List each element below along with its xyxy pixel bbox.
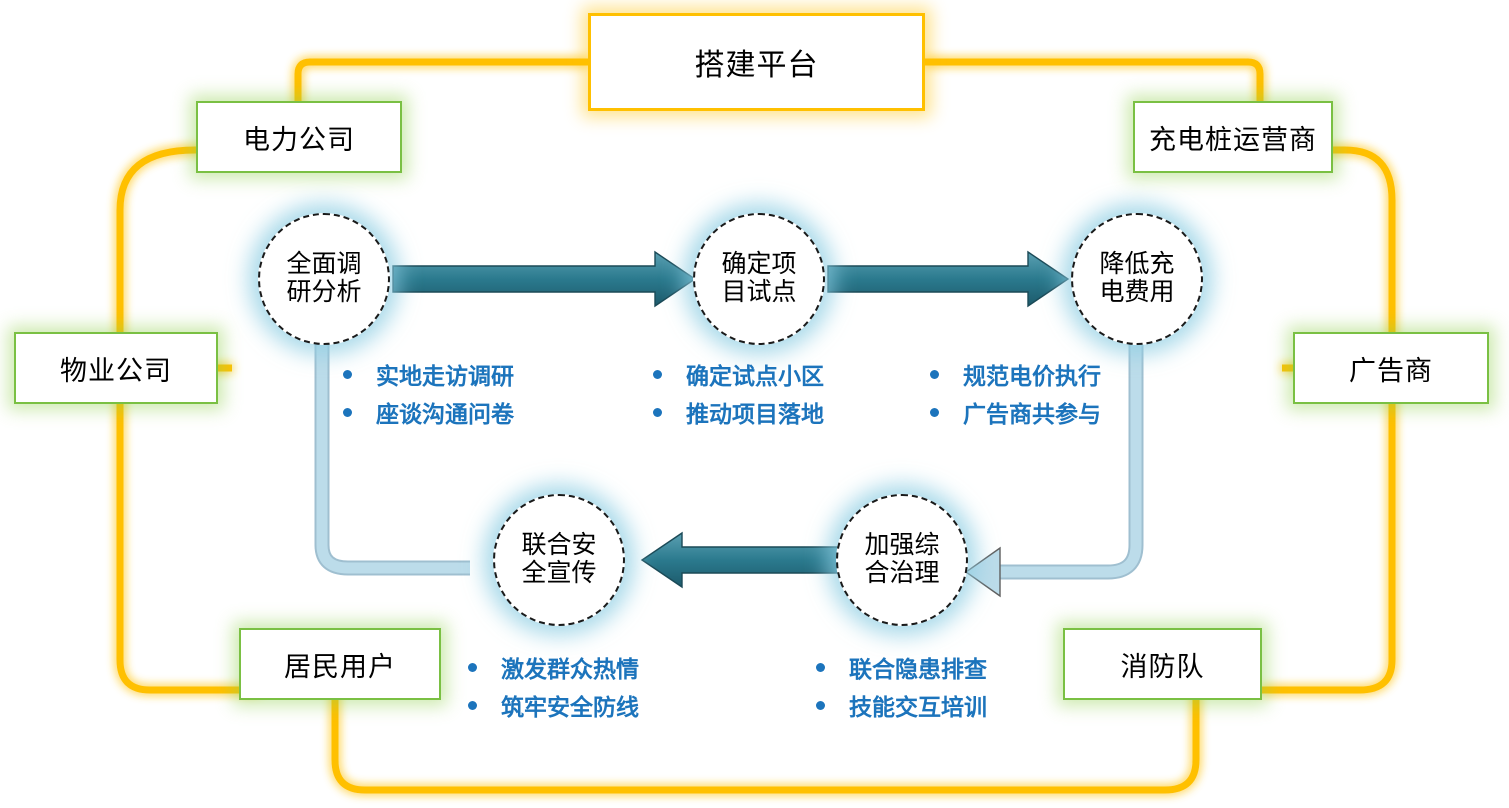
- bullet-dot-icon: [930, 408, 939, 417]
- bullet-text: 技能交互培训: [849, 688, 987, 722]
- bullet-dot-icon: [816, 663, 825, 672]
- process-pilot-line1: 确定项: [721, 251, 796, 279]
- platform-box[interactable]: 搭建平台: [588, 13, 925, 111]
- list-item: 广告商共参与: [930, 393, 1101, 431]
- process-publicity-line2: 全宣传: [521, 560, 596, 588]
- process-lower-fee-line2: 电费用: [1099, 279, 1174, 307]
- list-item: 技能交互培训: [816, 686, 987, 724]
- stakeholder-box-fire-brigade[interactable]: 消防队: [1063, 628, 1262, 700]
- stakeholder-box-charging-operator[interactable]: 充电桩运营商: [1133, 101, 1333, 173]
- diagram-canvas: 搭建平台 电力公司 充电桩运营商 物业公司 广告商 居民用户 消防队 全面调 研…: [0, 0, 1509, 808]
- bullet-text: 实地走访调研: [376, 357, 514, 391]
- process-publicity-line1: 联合安: [521, 532, 596, 560]
- stakeholder-box-property-company[interactable]: 物业公司: [14, 332, 218, 404]
- bullet-text: 联合隐患排查: [849, 650, 987, 684]
- flow-arrow-governance-to-publicity: [642, 533, 866, 587]
- stakeholder-label-property-company: 物业公司: [60, 349, 172, 388]
- stakeholder-label-fire-brigade: 消防队: [1121, 645, 1205, 684]
- bullet-dot-icon: [653, 408, 662, 417]
- bullets-survey: 实地走访调研 座谈沟通问卷: [343, 355, 514, 431]
- list-item: 确定试点小区: [653, 355, 824, 393]
- process-governance-line2: 合治理: [864, 560, 939, 588]
- process-circle-lower-fee-text: 降低充 电费用: [1099, 251, 1174, 307]
- stakeholder-box-resident-users[interactable]: 居民用户: [239, 628, 441, 700]
- bullet-text: 推动项目落地: [686, 395, 824, 429]
- process-circle-lower-fee[interactable]: 降低充 电费用: [1071, 213, 1203, 345]
- bullet-text: 筑牢安全防线: [501, 688, 639, 722]
- bullet-dot-icon: [468, 701, 477, 710]
- bullet-dot-icon: [468, 663, 477, 672]
- process-circle-governance-text: 加强综 合治理: [864, 532, 939, 588]
- bullet-text: 座谈沟通问卷: [376, 395, 514, 429]
- bullet-dot-icon: [816, 701, 825, 710]
- bullets-publicity: 激发群众热情 筑牢安全防线: [468, 648, 639, 724]
- list-item: 规范电价执行: [930, 355, 1101, 393]
- list-item: 激发群众热情: [468, 648, 639, 686]
- bullet-dot-icon: [930, 370, 939, 379]
- bullets-lower-fee: 规范电价执行 广告商共参与: [930, 355, 1101, 431]
- stakeholder-box-advertiser[interactable]: 广告商: [1293, 332, 1489, 404]
- bullet-text: 规范电价执行: [963, 357, 1101, 391]
- bullet-text: 激发群众热情: [501, 650, 639, 684]
- stakeholder-box-power-company[interactable]: 电力公司: [196, 101, 402, 173]
- flow-arrow-pilot-to-lowerfee: [828, 252, 1068, 306]
- flow-arrow-survey-to-pilot: [393, 252, 695, 306]
- process-circle-pilot-text: 确定项 目试点: [721, 251, 796, 307]
- list-item: 推动项目落地: [653, 393, 824, 431]
- stakeholder-label-charging-operator: 充电桩运营商: [1149, 118, 1317, 157]
- process-circle-survey[interactable]: 全面调 研分析: [258, 213, 390, 345]
- bullet-text: 广告商共参与: [963, 395, 1101, 429]
- bullet-dot-icon: [343, 408, 352, 417]
- process-survey-line2: 研分析: [286, 279, 361, 307]
- list-item: 座谈沟通问卷: [343, 393, 514, 431]
- bullet-dot-icon: [653, 370, 662, 379]
- bullets-pilot: 确定试点小区 推动项目落地: [653, 355, 824, 431]
- platform-label: 搭建平台: [695, 40, 819, 84]
- process-circle-pilot[interactable]: 确定项 目试点: [693, 213, 825, 345]
- bullet-text: 确定试点小区: [686, 357, 824, 391]
- list-item: 联合隐患排查: [816, 648, 987, 686]
- process-circle-publicity[interactable]: 联合安 全宣传: [493, 494, 625, 626]
- process-pilot-line2: 目试点: [721, 279, 796, 307]
- bullets-governance: 联合隐患排查 技能交互培训: [816, 648, 987, 724]
- process-circle-governance[interactable]: 加强综 合治理: [836, 494, 968, 626]
- process-survey-line1: 全面调: [286, 251, 361, 279]
- stakeholder-label-power-company: 电力公司: [243, 118, 355, 157]
- stakeholder-label-advertiser: 广告商: [1349, 349, 1433, 388]
- list-item: 筑牢安全防线: [468, 686, 639, 724]
- process-lower-fee-line1: 降低充: [1099, 251, 1174, 279]
- process-circle-publicity-text: 联合安 全宣传: [521, 532, 596, 588]
- process-governance-line1: 加强综: [864, 532, 939, 560]
- stakeholder-label-resident-users: 居民用户: [284, 645, 396, 684]
- list-item: 实地走访调研: [343, 355, 514, 393]
- bullet-dot-icon: [343, 370, 352, 379]
- process-circle-survey-text: 全面调 研分析: [286, 251, 361, 307]
